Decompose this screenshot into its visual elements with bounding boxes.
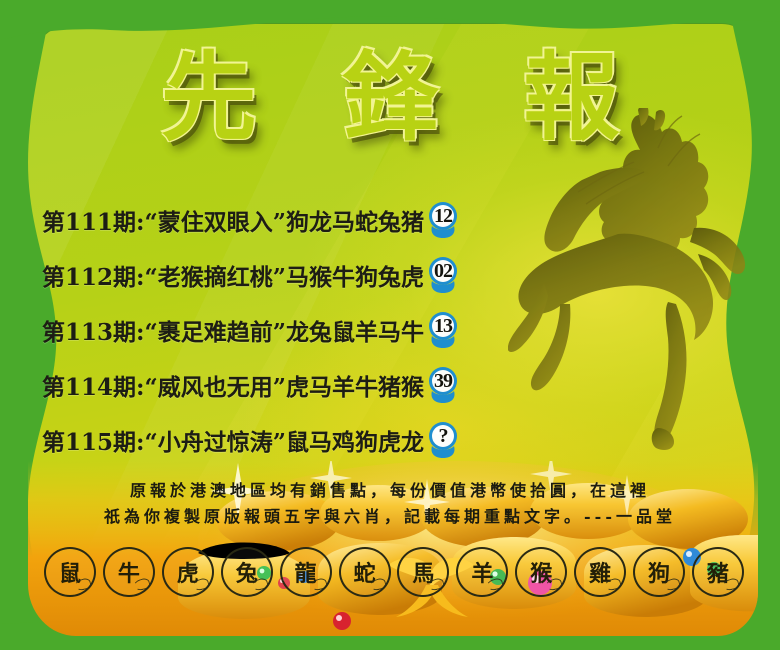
lottery-ball-icon: 12	[426, 201, 460, 239]
lottery-ball-icon: 13	[426, 311, 460, 349]
zodiac-goat[interactable]: 羊	[456, 547, 508, 597]
ball-number: 13	[426, 313, 460, 341]
prediction-row[interactable]: 第113期:“裹足难趋前”龙兔鼠羊马牛 13	[0, 302, 780, 357]
wave-top-edge	[0, 0, 780, 70]
zodiac-dragon[interactable]: 龍	[280, 547, 332, 597]
prediction-text: 第115期:“小舟过惊涛”鼠马鸡狗虎龙	[42, 423, 424, 457]
zodiac-label: 猴	[530, 556, 552, 588]
ball-number: 02	[426, 258, 460, 286]
footer-note: 原報於港澳地區均有銷售點，每份價值港幣使拾圓，在這裡 祇為你複製原版報頭五字與六…	[0, 478, 780, 530]
zodiac-label: 狗	[648, 556, 670, 588]
zodiac-dog[interactable]: 狗	[633, 547, 685, 597]
lottery-ball-icon: 02	[426, 256, 460, 294]
zodiac-rooster[interactable]: 雞	[574, 547, 626, 597]
zodiac-horse[interactable]: 馬	[397, 547, 449, 597]
footer-line-2: 祇為你複製原版報頭五字與六肖，記載每期重點文字。---一品堂	[0, 504, 780, 530]
zodiac-label: 豬	[707, 556, 729, 588]
prediction-text: 第113期:“裹足难趋前”龙兔鼠羊马牛	[42, 313, 424, 347]
ball-number: 39	[426, 368, 460, 396]
prediction-row[interactable]: 第115期:“小舟过惊涛”鼠马鸡狗虎龙 ?	[0, 412, 780, 467]
prediction-row[interactable]: 第112期:“老猴摘红桃”马猴牛狗兔虎 02	[0, 247, 780, 302]
zodiac-tiger[interactable]: 虎	[162, 547, 214, 597]
prediction-text: 第112期:“老猴摘红桃”马猴牛狗兔虎	[42, 258, 424, 292]
prediction-list: 第111期:“蒙住双眼入”狗龙马蛇兔猪 12 第112期:“老猴摘红桃”马猴牛狗…	[0, 192, 780, 467]
lottery-ball-icon: 39	[426, 366, 460, 404]
zodiac-snake[interactable]: 蛇	[339, 547, 391, 597]
lottery-ball-icon: ?	[426, 421, 460, 459]
footer-line-1: 原報於港澳地區均有銷售點，每份價值港幣使拾圓，在這裡	[0, 478, 780, 504]
ball-number: ?	[426, 423, 460, 451]
prediction-text: 第114期:“威风也无用”虎马羊牛猪猴	[42, 368, 424, 402]
zodiac-label: 牛	[118, 556, 140, 588]
zodiac-label: 馬	[412, 556, 434, 588]
zodiac-ox[interactable]: 牛	[103, 547, 155, 597]
zodiac-label: 雞	[589, 556, 611, 588]
zodiac-label: 羊	[471, 556, 493, 588]
zodiac-label: 蛇	[354, 556, 376, 588]
prediction-row[interactable]: 第111期:“蒙住双眼入”狗龙马蛇兔猪 12	[0, 192, 780, 247]
poster-root: 先 鋒 報	[0, 0, 780, 650]
prediction-row[interactable]: 第114期:“威风也无用”虎马羊牛猪猴 39	[0, 357, 780, 412]
ball-number: 12	[426, 203, 460, 231]
zodiac-rat[interactable]: 鼠	[44, 547, 96, 597]
zodiac-label: 龍	[295, 556, 317, 588]
zodiac-label: 鼠	[59, 556, 81, 588]
zodiac-monkey[interactable]: 猴	[515, 547, 567, 597]
zodiac-label: 兔	[236, 556, 258, 588]
zodiac-strip: 鼠 牛 虎 兔 龍 蛇 馬 羊 猴 雞 狗 豬	[44, 548, 744, 596]
zodiac-label: 虎	[177, 556, 199, 588]
zodiac-rabbit[interactable]: 兔	[221, 547, 273, 597]
zodiac-pig[interactable]: 豬	[692, 547, 744, 597]
prediction-text: 第111期:“蒙住双眼入”狗龙马蛇兔猪	[42, 203, 424, 237]
